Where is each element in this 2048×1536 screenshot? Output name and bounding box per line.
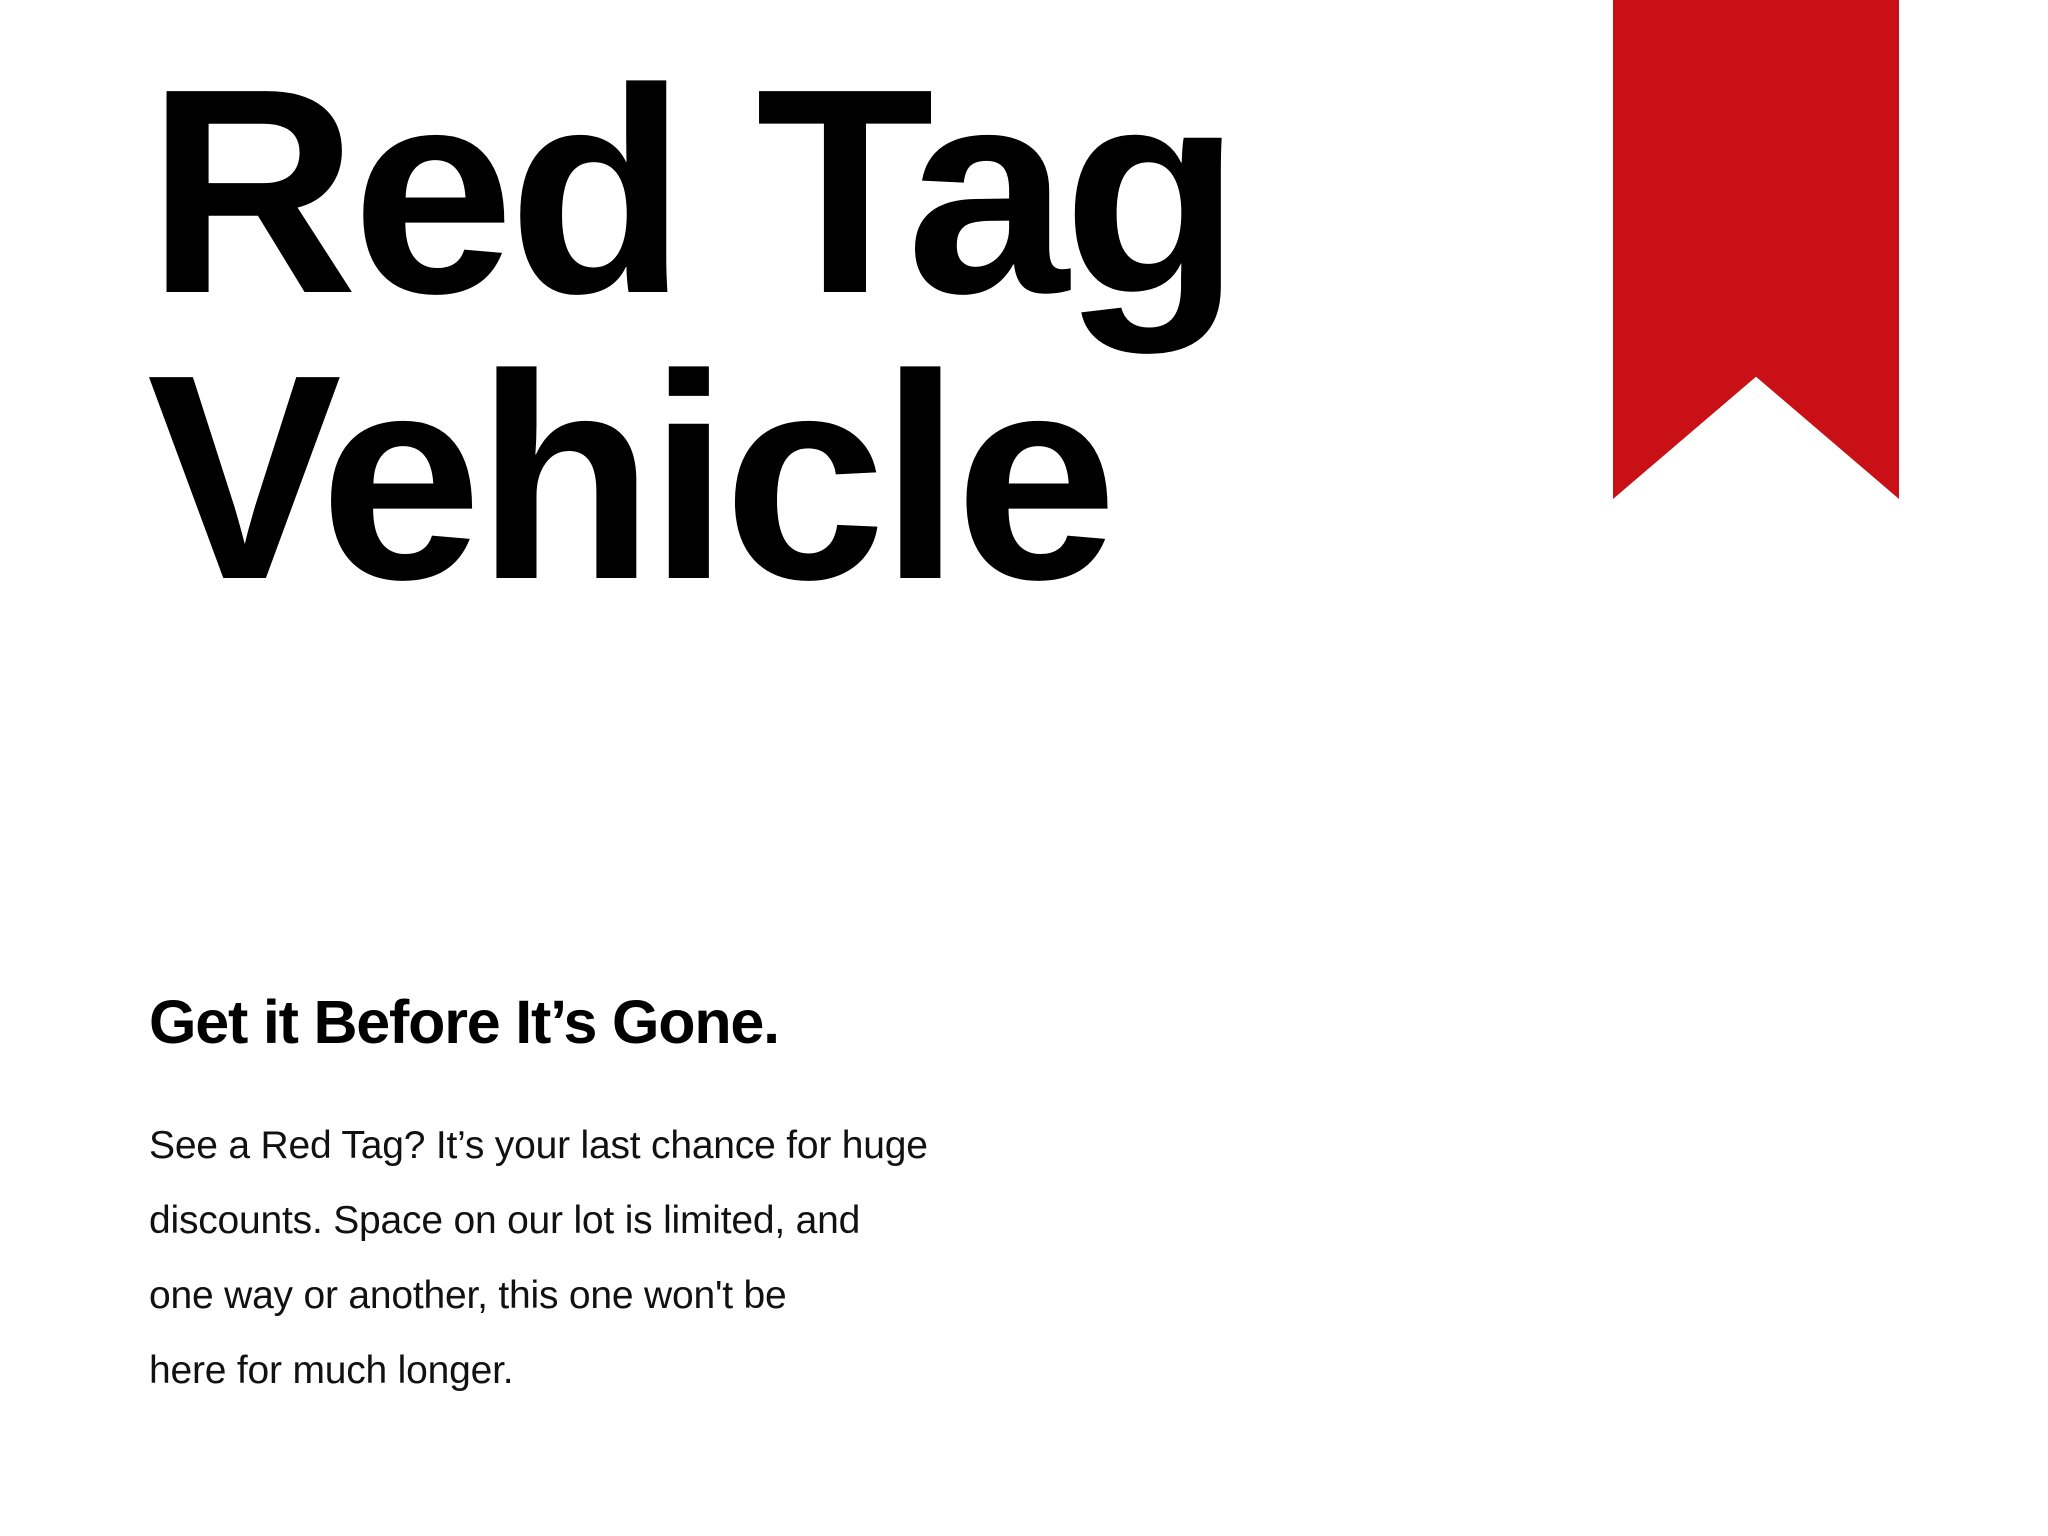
body-line: here for much longer. [149,1333,928,1408]
body-line: discounts. Space on our lot is limited, … [149,1183,928,1258]
promo-body-copy: See a Red Tag? It’s your last chance for… [149,1108,928,1408]
promo-subheading: Get it Before It’s Gone. [149,988,779,1056]
page-title: Red TagVehicle [147,48,1235,620]
headline-line-1: Red Tag [147,28,1235,354]
headline-line-2: Vehicle [147,314,1111,640]
body-line: one way or another, this one won't be [149,1258,928,1333]
red-tag-ribbon-icon [1613,0,1899,499]
body-line: See a Red Tag? It’s your last chance for… [149,1108,928,1183]
promo-banner: Red TagVehicle Get it Before It’s Gone. … [0,0,2048,1536]
content-column: Red TagVehicle Get it Before It’s Gone. … [149,0,1549,1536]
